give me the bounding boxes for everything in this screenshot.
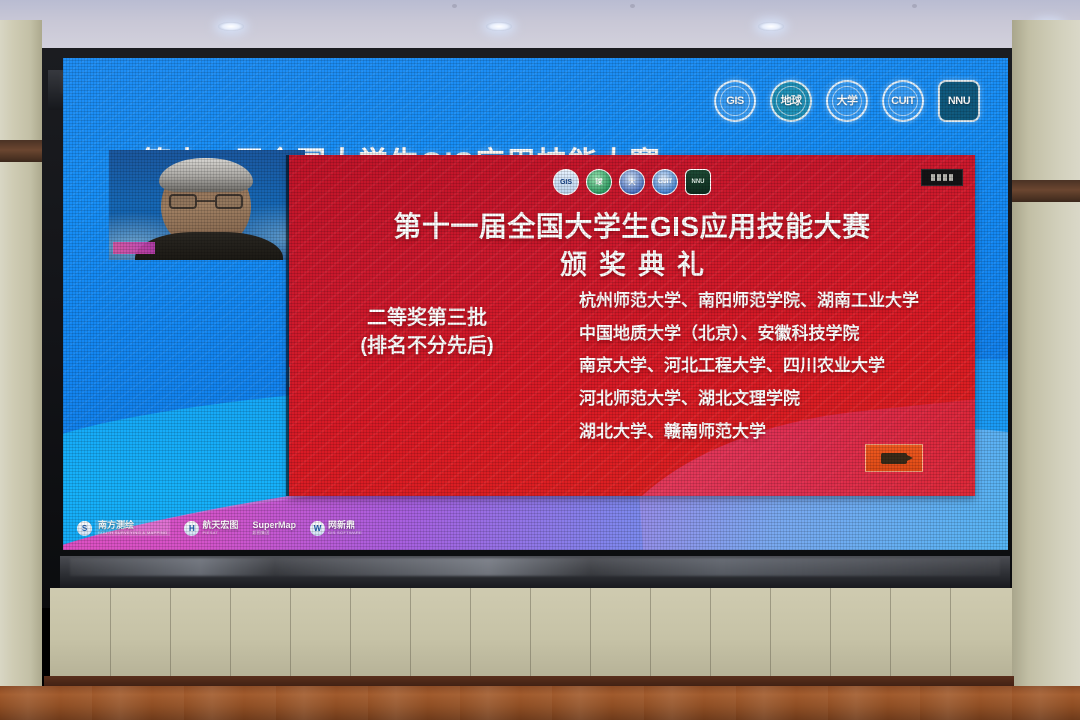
ceiling	[0, 0, 1080, 52]
ceiling-light	[758, 22, 784, 31]
sponsor-logo: W 网新鼎 GIS SOFTWARE	[310, 521, 362, 536]
sponsor-name: 南方测绘 SOUTH SURVEYING & MAPPING	[95, 520, 170, 536]
slide-title: 第十一届全国大学生GIS应用技能大赛	[289, 205, 975, 245]
winner-line: 中国地质大学（北京）、安徽科技学院	[579, 318, 919, 351]
header-logo-row: GIS 地球 大学 CUIT NNU	[714, 80, 980, 122]
speaker-video-feed[interactable]	[109, 150, 305, 260]
sponsor-name: 航天宏图 PIESAT	[202, 521, 238, 535]
slide-logo-row: GIS 球 大 CUIT NNU	[289, 169, 975, 195]
sponsor-mark-icon: S	[77, 521, 92, 536]
ceiling-fixture-dot	[452, 4, 457, 8]
sponsor-name: SuperMap 超图集团	[252, 521, 296, 535]
wall-trim-band	[1012, 180, 1080, 202]
ceiling-light	[486, 22, 512, 31]
cuit-logo: CUIT	[882, 80, 924, 122]
sponsor-mark-icon: H	[184, 521, 199, 536]
wall-trim-band	[0, 140, 42, 162]
cuit-logo: CUIT	[652, 169, 678, 195]
gis-association-logo: GIS	[714, 80, 756, 122]
slide-drag-handle[interactable]	[289, 367, 290, 387]
sponsor-logo: H 航天宏图 PIESAT	[184, 521, 238, 536]
slide-subtitle: 颁奖典礼	[289, 243, 975, 282]
stage-wall-panels	[50, 588, 1012, 680]
nanjing-normal-university-logo: NNU	[938, 80, 980, 122]
award-category-line-1: 二等奖第三批	[317, 305, 537, 333]
wall-right	[1012, 20, 1080, 720]
green-globe-logo: 地球	[770, 80, 812, 122]
sponsor-logo-row: S 南方测绘 SOUTH SURVEYING & MAPPING H 航天宏图 …	[77, 520, 362, 536]
sponsor-logo: SuperMap 超图集团	[252, 521, 296, 535]
award-category-label: 二等奖第三批 (排名不分先后)	[317, 305, 537, 360]
camera-indicator-icon	[865, 444, 923, 472]
gis-association-logo: GIS	[553, 169, 579, 195]
ceiling-fixture-dot	[912, 4, 917, 8]
video-overlay-badge	[113, 242, 155, 254]
sponsor-mark-icon: W	[310, 521, 325, 536]
auditorium-scene: 第十一届全国大学生GIS应用技能大赛 GIS 地球 大学 CUIT NNU	[0, 0, 1080, 720]
ceiling-fixture-dot	[630, 4, 635, 8]
floor-reflection	[0, 686, 1080, 720]
winner-line: 南京大学、河北工程大学、四川农业大学	[579, 350, 919, 383]
winner-line: 河北师范大学、湖北文理学院	[579, 383, 919, 416]
wall-left	[0, 20, 42, 720]
presentation-control-bar[interactable]	[921, 169, 963, 186]
winner-line: 杭州师范大学、南阳师范学院、湖南工业大学	[579, 285, 919, 318]
led-screen: 第十一届全国大学生GIS应用技能大赛 GIS 地球 大学 CUIT NNU	[63, 58, 1008, 550]
winner-university-list: 杭州师范大学、南阳师范学院、湖南工业大学 中国地质大学（北京）、安徽科技学院 南…	[579, 285, 919, 448]
nanjing-normal-university-logo: NNU	[685, 169, 711, 195]
green-globe-logo: 球	[586, 169, 612, 195]
university-seal-logo: 大	[619, 169, 645, 195]
glasses-icon	[169, 194, 243, 209]
award-slide[interactable]: GIS 球 大 CUIT NNU 第十一届全国大学生GIS应用技能大赛 颁奖典礼…	[289, 155, 975, 496]
housing-bottom-reflection	[70, 558, 1000, 576]
university-seal-logo: 大学	[826, 80, 868, 122]
ceiling-light	[218, 22, 244, 31]
sponsor-logo: S 南方测绘 SOUTH SURVEYING & MAPPING	[77, 520, 170, 536]
award-category-line-2: (排名不分先后)	[317, 333, 537, 361]
sponsor-name: 网新鼎 GIS SOFTWARE	[328, 521, 362, 535]
